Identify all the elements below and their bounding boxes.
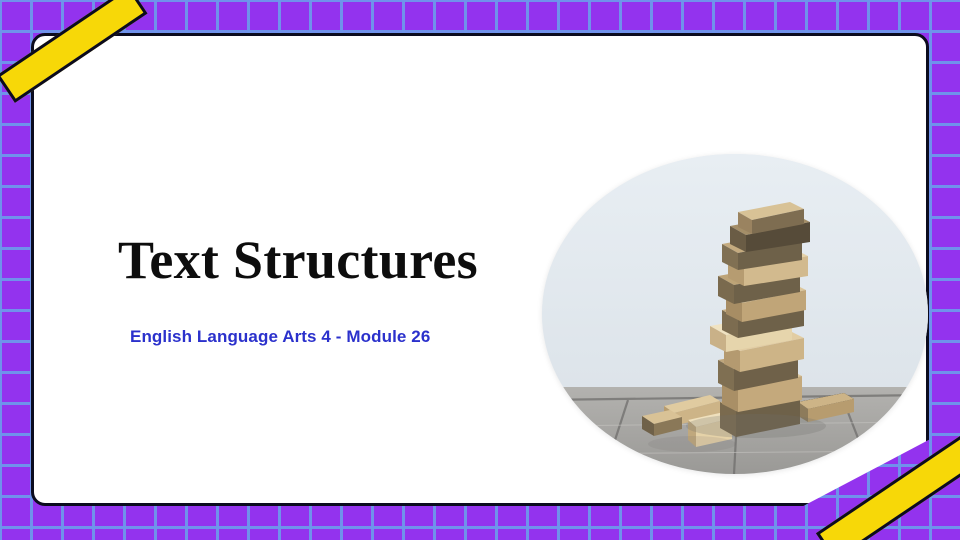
wooden-block-tower-photo	[542, 154, 928, 474]
card-inner-area: Text Structures English Language Arts 4 …	[34, 36, 926, 503]
white-content-card: Text Structures English Language Arts 4 …	[31, 33, 929, 506]
slide-canvas: Text Structures English Language Arts 4 …	[0, 0, 960, 540]
slide-subtitle: English Language Arts 4 - Module 26	[130, 327, 518, 347]
page-title: Text Structures	[118, 232, 518, 289]
title-text-block: Text Structures English Language Arts 4 …	[118, 232, 518, 347]
photo-illustration	[542, 154, 928, 474]
